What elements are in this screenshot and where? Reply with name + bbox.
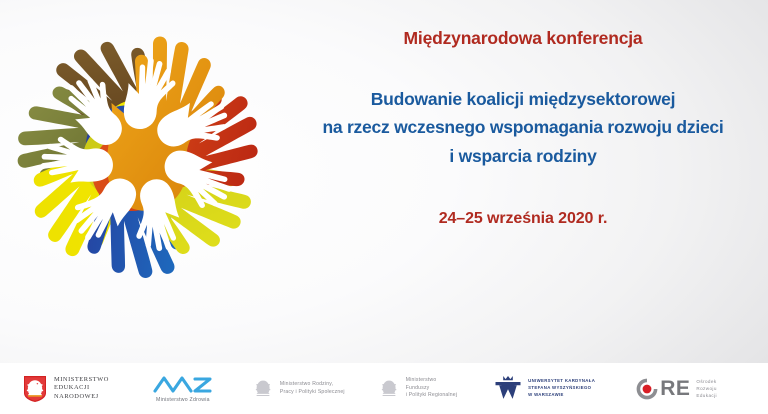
uksw-w-crest-icon [493,375,523,403]
sponsor-logo-bar: MINISTERSTWO EDUKACJI NARODOWEJ Minister… [0,363,768,414]
logo-uniwersytet-kardynala-stefana-wyszynskiego: UNIWERSYTET KARDYNAŁA STEFANA WYSZYŃSKIE… [493,363,595,414]
poster-text-block: Międzynarodowa konferencja Budowanie koa… [286,18,760,228]
logo-ministerstwo-zdrowia: Ministerstwo Zdrowia [152,363,214,414]
logo-label-men: MINISTERSTWO EDUKACJI NARODOWEJ [54,376,109,401]
logo-osrodek-rozwoju-edukacji: RE Ośrodek Rozwoju Edukacji [635,363,717,414]
logo-label-mfipr: Ministerstwo Funduszy i Polityki Regiona… [406,377,457,400]
title-line-1: Budowanie koalicji międzysektorowej [286,85,760,113]
circle-of-hands-logo [8,6,270,302]
logo-ministerstwo-rodziny-pracy-i-polityki-spolecznej: Ministerstwo Rodziny, Pracy i Polityki S… [252,363,345,414]
polish-eagle-emblem-icon [378,377,400,401]
logo-label-ore: Ośrodek Rozwoju Edukacji [696,378,717,399]
conference-date: 24–25 września 2020 r. [286,210,760,228]
ore-circle-icon [635,377,659,401]
ore-wordmark: RE [660,377,690,401]
conference-poster: Międzynarodowa konferencja Budowanie koa… [0,0,768,414]
title-line-3: i wsparcia rodziny [286,142,760,170]
polish-eagle-emblem-icon [22,375,48,403]
logo-label-uksw: UNIWERSYTET KARDYNAŁA STEFANA WYSZYŃSKIE… [528,378,595,399]
logo-ministerstwo-funduszy-i-polityki-regionalnej: Ministerstwo Funduszy i Polityki Regiona… [378,363,457,414]
page-title: Budowanie koalicji międzysektorowej na r… [286,85,760,170]
title-line-2: na rzecz wczesnego wspomagania rozwoju d… [286,113,760,141]
mz-zigzag-icon [152,375,214,395]
polish-eagle-emblem-icon [252,377,274,401]
logo-label-mz: Ministerstwo Zdrowia [156,397,210,403]
logo-label-mrpips: Ministerstwo Rodziny, Pracy i Polityki S… [280,381,345,396]
logo-ministerstwo-edukacji-narodowej: MINISTERSTWO EDUKACJI NARODOWEJ [22,363,109,414]
conference-kicker: Międzynarodowa konferencja [286,28,760,49]
